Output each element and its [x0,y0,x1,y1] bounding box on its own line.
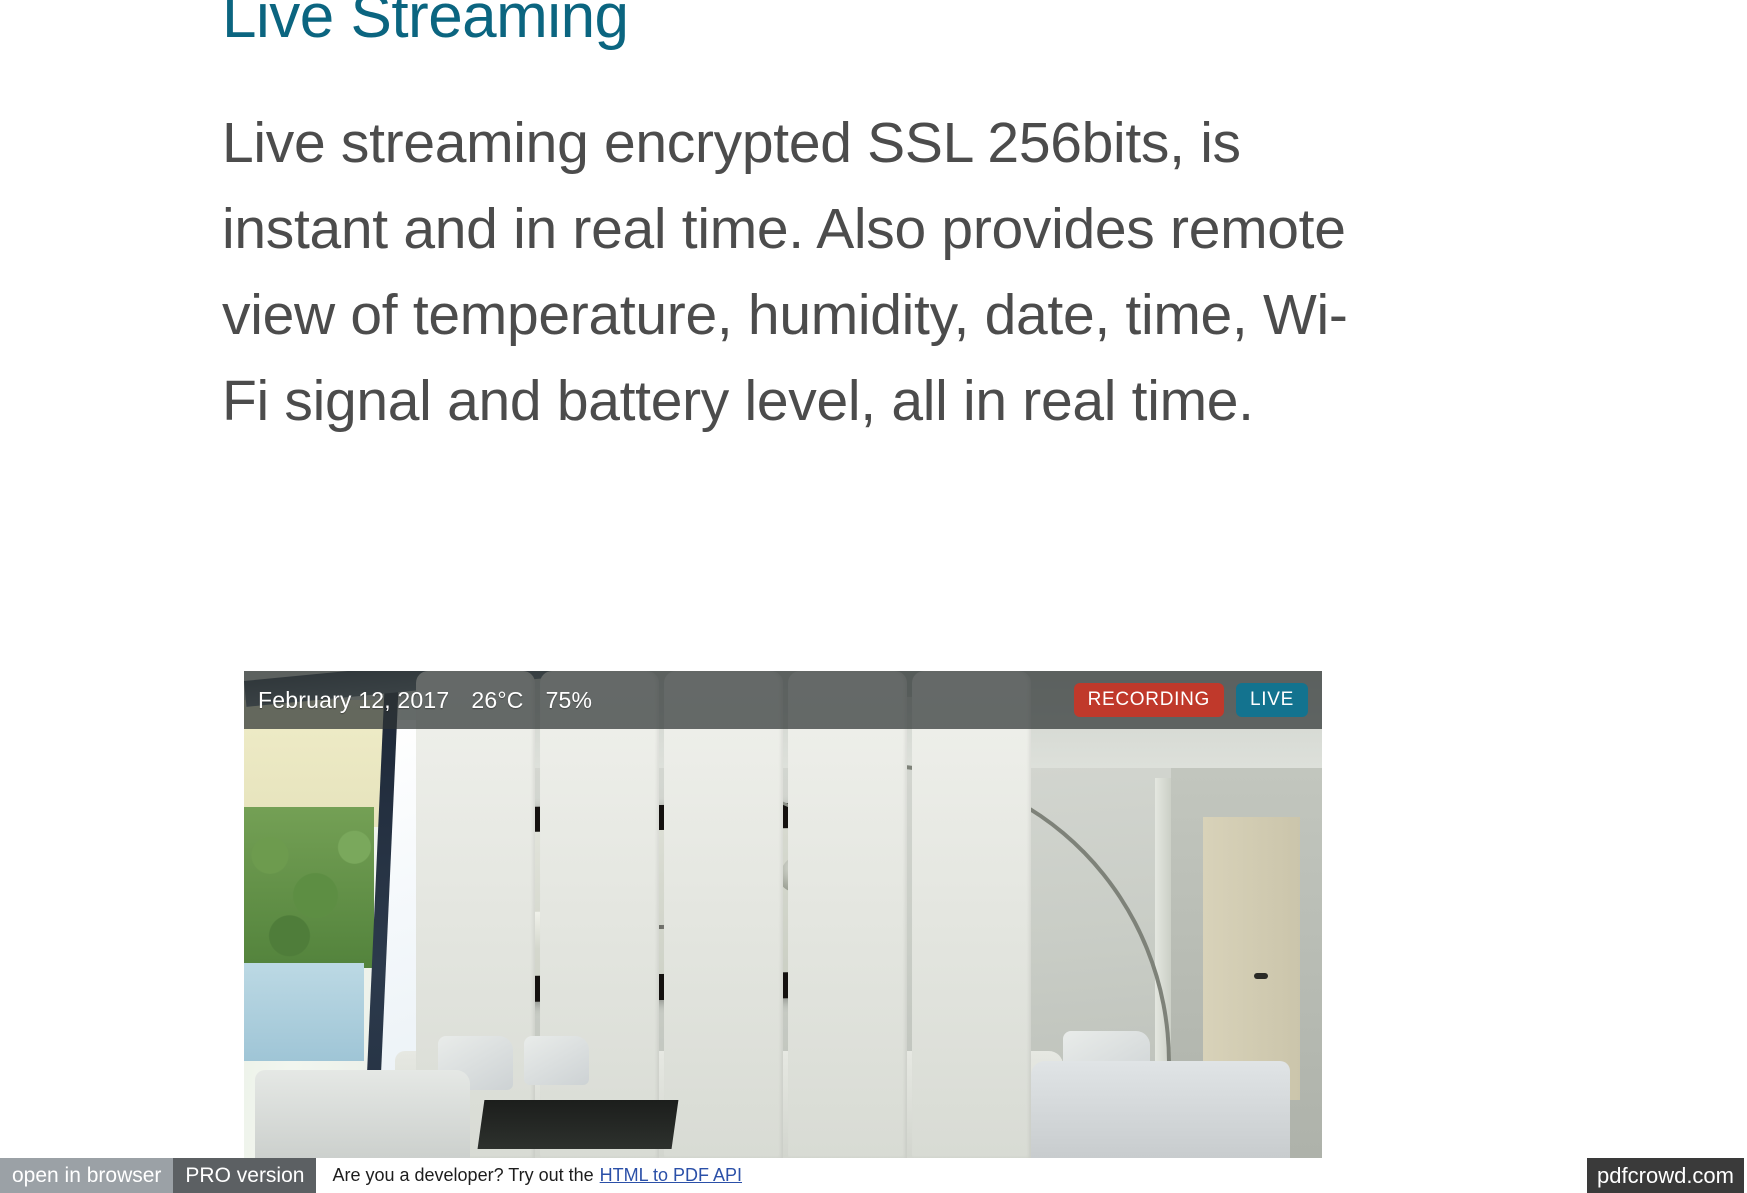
pro-version-button[interactable]: PRO version [173,1158,316,1193]
open-in-browser-button[interactable]: open in browser [0,1158,173,1193]
left-armchair [255,1070,471,1158]
slide-page: Live Streaming Live streaming encrypted … [0,0,1747,1193]
sofa-cushion [912,671,1031,1158]
page-title: Live Streaming [222,0,629,48]
developer-promo-text: Are you a developer? Try out the [332,1165,593,1186]
overlay-humidity: 75% [546,687,593,714]
html-to-pdf-api-link[interactable]: HTML to PDF API [600,1165,742,1186]
right-sofa-section [1031,1061,1290,1158]
door-handle [1254,973,1268,979]
pdfcrowd-brand-badge[interactable]: pdfcrowd.com [1587,1158,1744,1193]
throw-pillow [524,1036,589,1085]
status-badge-live: LIVE [1236,683,1308,717]
pool-water [244,963,364,1060]
pdfcrowd-footer: open in browser PRO version Are you a de… [0,1158,1747,1193]
camera-stats-group: February 12, 2017 26°C 75% [258,687,592,714]
coffee-table [478,1100,679,1149]
camera-still-image: February 12, 2017 26°C 75% RECORDING LIV… [244,671,1322,1158]
sofa-cushion [664,671,783,1158]
overlay-date: February 12, 2017 [258,687,449,714]
living-room-scene [244,671,1322,1158]
camera-overlay-bar: February 12, 2017 26°C 75% RECORDING LIV… [244,671,1322,729]
footer-spacer [758,1158,1587,1193]
slide-body-text: Live streaming encrypted SSL 256bits, is… [222,100,1382,444]
outdoor-foliage [244,807,374,968]
sofa-cushion [788,671,907,1158]
interior-door [1203,817,1300,1099]
developer-promo: Are you a developer? Try out the HTML to… [316,1158,758,1193]
status-badge-recording: RECORDING [1074,683,1224,717]
overlay-temperature: 26°C [471,687,523,714]
